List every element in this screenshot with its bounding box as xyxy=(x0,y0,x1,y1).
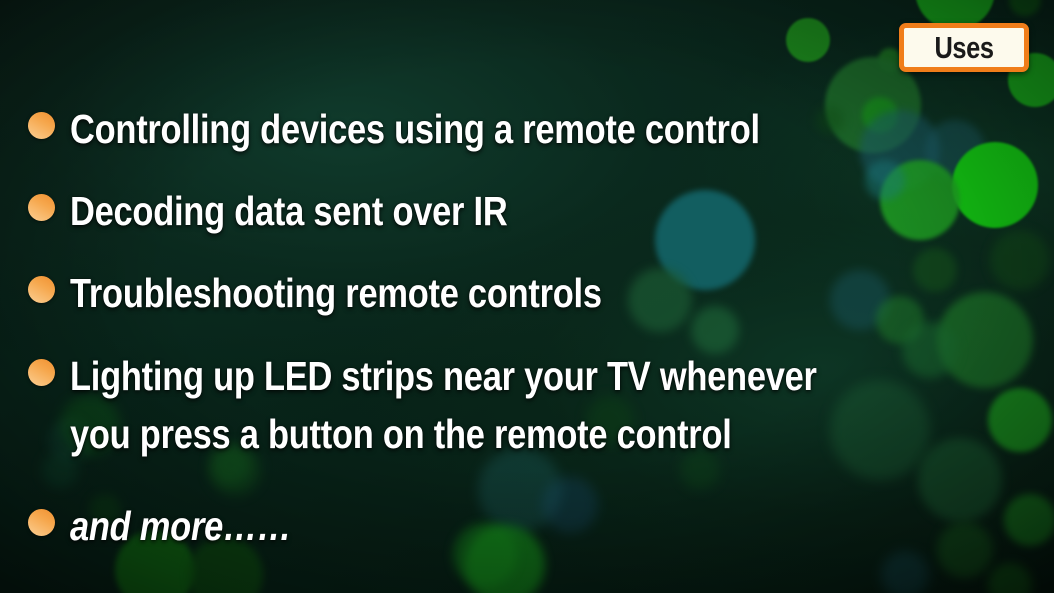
bullet-item: and more…… xyxy=(28,497,1028,555)
slide-title-label: Uses xyxy=(934,32,993,63)
bullet-dot-icon xyxy=(28,276,55,303)
bullet-dot-icon xyxy=(28,359,55,386)
bullet-item-label: Controlling devices using a remote contr… xyxy=(70,100,875,158)
bullet-item: Controlling devices using a remote contr… xyxy=(28,100,1028,158)
bokeh-circle xyxy=(1009,0,1041,16)
bullet-item: Decoding data sent over IR xyxy=(28,182,1028,240)
bullet-item-label: Lighting up LED strips near your TV when… xyxy=(70,347,875,463)
bullet-dot-icon xyxy=(28,509,55,536)
bullet-item: Lighting up LED strips near your TV when… xyxy=(28,347,1028,463)
bullet-item-label: Decoding data sent over IR xyxy=(70,182,875,240)
bullet-dot-icon xyxy=(28,112,55,139)
bullet-item: Troubleshooting remote controls xyxy=(28,264,1028,322)
slide-title-badge: Uses xyxy=(899,23,1029,72)
bokeh-circle xyxy=(786,18,830,62)
bullet-item-label: and more…… xyxy=(70,497,875,555)
bullet-list: Controlling devices using a remote contr… xyxy=(28,100,1028,579)
slide-canvas: Uses Controlling devices using a remote … xyxy=(0,0,1054,593)
bullet-item-label: Troubleshooting remote controls xyxy=(70,264,875,322)
bullet-dot-icon xyxy=(28,194,55,221)
